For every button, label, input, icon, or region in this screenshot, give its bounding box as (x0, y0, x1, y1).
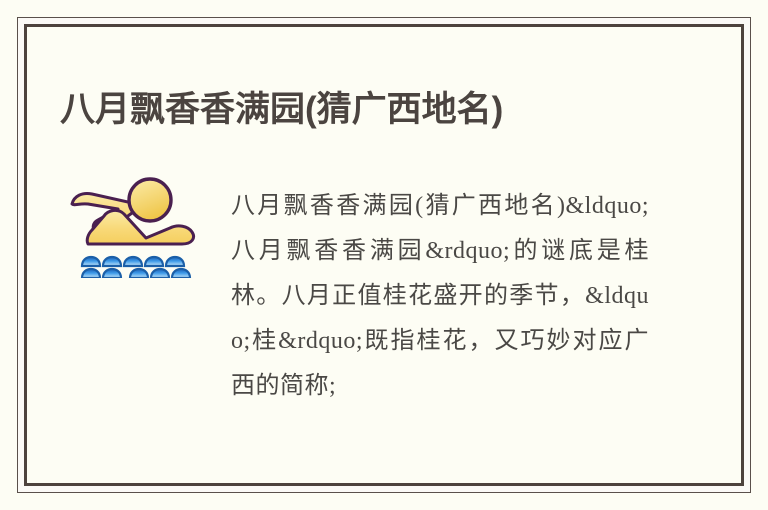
page-title: 八月飘香香满园(猜广西地名) (60, 87, 503, 133)
article-body: 八月飘香香满园(猜广西地名)&ldquo;八月飘香香满园&rdquo;的谜底是桂… (231, 184, 649, 409)
swimmer-icon (62, 166, 202, 276)
page-root: 八月飘香香满园(猜广西地名) (0, 0, 768, 510)
